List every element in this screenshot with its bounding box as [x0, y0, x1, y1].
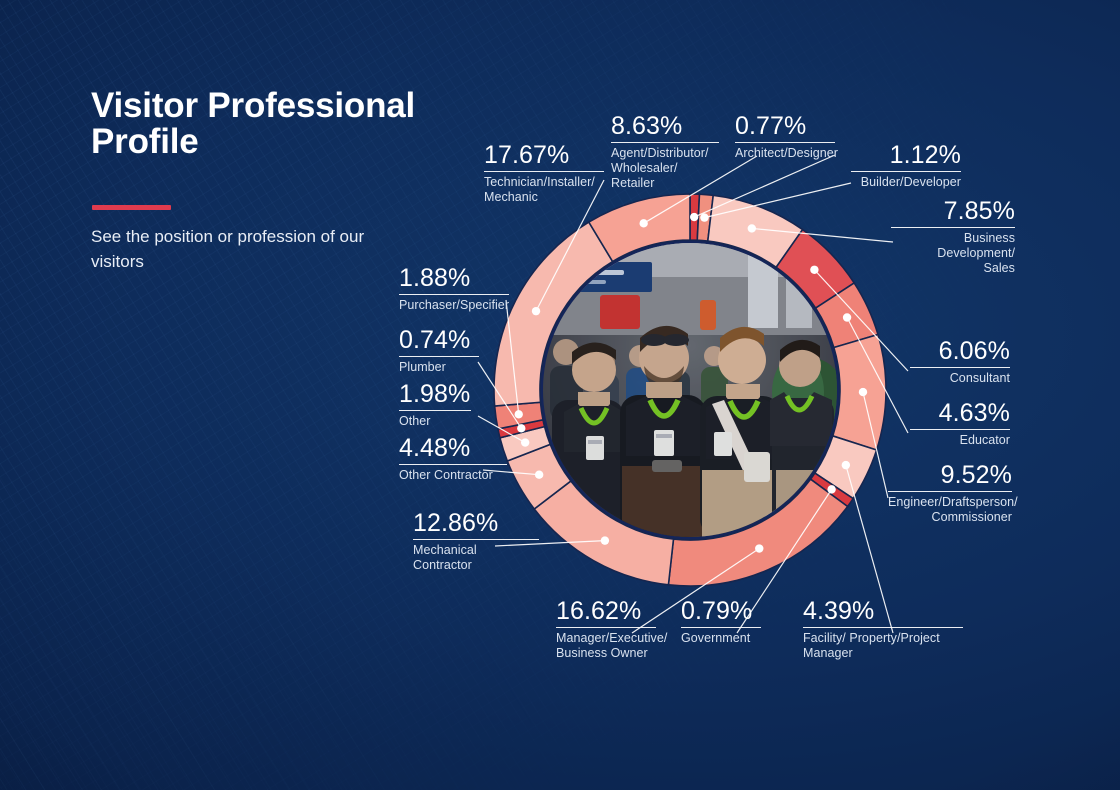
leader-dot	[842, 461, 850, 469]
callout-rule	[399, 464, 507, 465]
callout-rule	[399, 294, 509, 295]
callout-other: 1.98% Other	[399, 381, 471, 429]
leader-dot	[515, 410, 523, 418]
callout-rule	[681, 627, 761, 628]
callout-rule	[910, 367, 1010, 368]
callout-agent-distributor-wholesaler-retailer: 8.63% Agent/Distributor/ Wholesaler/ Ret…	[611, 113, 719, 191]
callout-business-development-sales: 7.85% Business Development/ Sales	[891, 198, 1015, 276]
leader-dot	[755, 544, 763, 552]
leader-dot	[517, 424, 525, 432]
leader-dot	[601, 536, 609, 544]
leader-dot	[535, 471, 543, 479]
leader-dot	[748, 224, 756, 232]
callout-rule	[910, 429, 1010, 430]
callout-rule	[556, 627, 656, 628]
leader-dot	[859, 388, 867, 396]
leader-dot	[532, 307, 540, 315]
callout-rule	[484, 171, 604, 172]
donut-chart: GM	[0, 0, 1120, 790]
leader-dot	[690, 213, 698, 221]
callout-technician-installer-mechanic: 17.67% Technician/Installer/ Mechanic	[484, 142, 604, 205]
callout-engineer-draftsperson-commissioner: 9.52% Engineer/Draftsperson/ Commissione…	[888, 462, 1012, 525]
callout-architect-designer: 0.77% Architect/Designer	[735, 113, 835, 161]
callout-facility-property-project-manager: 4.39% Facility/ Property/Project Manager	[803, 598, 963, 661]
callout-consultant: 6.06% Consultant	[910, 338, 1010, 386]
callout-rule	[851, 171, 961, 172]
callout-manager-executive-business-owner: 16.62% Manager/Executive/ Business Owner	[556, 598, 656, 661]
callout-rule	[611, 142, 719, 143]
leader-dot	[639, 219, 647, 227]
leader-dot	[700, 213, 708, 221]
leader-dot	[521, 438, 529, 446]
callout-rule	[803, 627, 963, 628]
callout-rule	[399, 356, 479, 357]
callout-purchaser-specifier: 1.88% Purchaser/Specifier	[399, 265, 509, 313]
callout-rule	[888, 491, 1012, 492]
donut-chart-svg: GM	[0, 0, 1120, 790]
leader-dot	[843, 313, 851, 321]
callout-plumber: 0.74% Plumber	[399, 327, 479, 375]
callout-builder-developer: 1.12% Builder/Developer	[851, 142, 961, 190]
leader-dot	[810, 266, 818, 274]
callout-other-contractor: 4.48% Other Contractor	[399, 435, 507, 483]
callout-government: 0.79% Government	[681, 598, 761, 646]
infographic-canvas: Visitor Professional Profile See the pos…	[0, 0, 1120, 790]
callout-rule	[735, 142, 835, 143]
leader-dot	[827, 485, 835, 493]
callout-rule	[891, 227, 1015, 228]
callout-rule	[413, 539, 539, 540]
callout-educator: 4.63% Educator	[910, 400, 1010, 448]
callout-rule	[399, 410, 471, 411]
callout-mechanical-contractor: 12.86% Mechanical Contractor	[413, 510, 539, 573]
